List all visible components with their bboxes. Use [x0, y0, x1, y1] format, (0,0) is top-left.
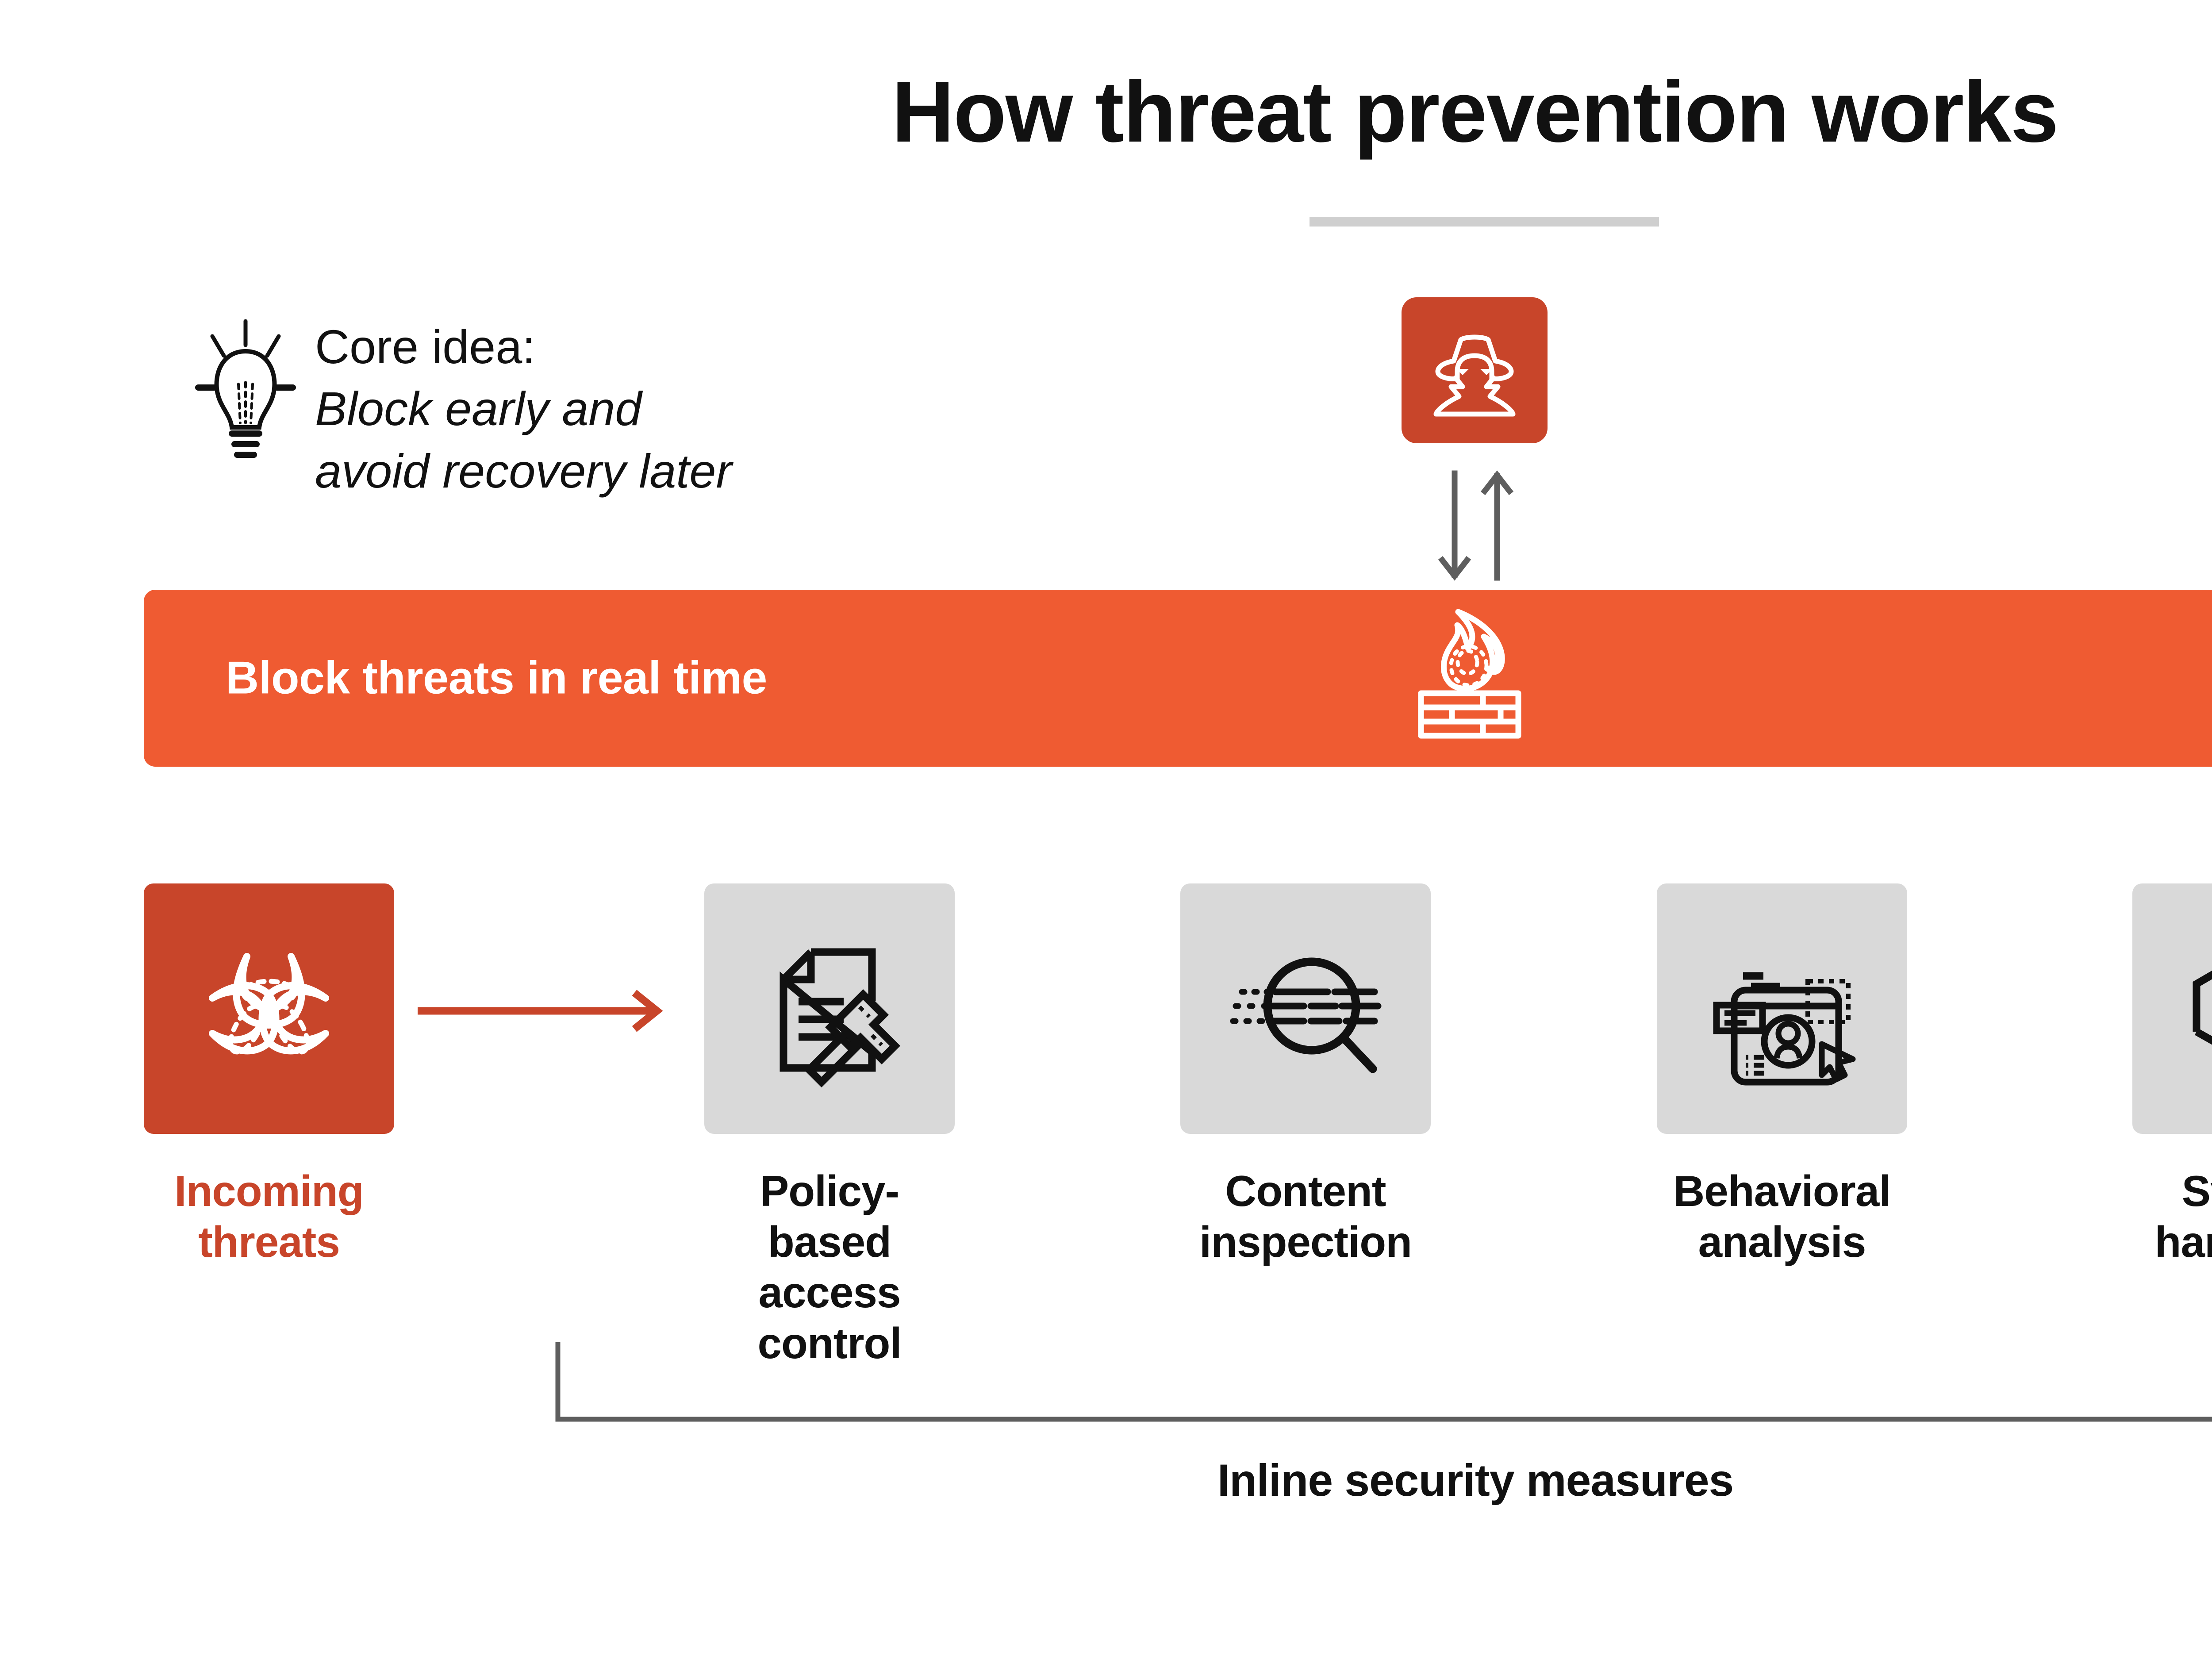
incoming-threats-tile[interactable]: [144, 883, 394, 1134]
core-idea-detail-line-1: Block early and: [315, 378, 732, 440]
arrow-down-icon: [1442, 473, 1467, 576]
behavioral-analysis-tile[interactable]: [1657, 883, 1907, 1134]
page-header: How threat prevention works: [0, 66, 2212, 157]
label-line-2: threats: [144, 1217, 394, 1267]
inline-measures-caption: Inline security measures: [555, 1455, 2212, 1506]
title-divider: [1310, 217, 1659, 227]
hacker-icon: [1425, 319, 1525, 422]
core-idea-label: Core idea:: [315, 316, 732, 378]
pipeline-stage-incoming-threats[interactable]: Incoming threats: [144, 883, 394, 1267]
realtime-block-banner[interactable]: Block threats in real time: [144, 590, 2212, 767]
pipeline-stage-system-hardening[interactable]: System hardening: [2132, 883, 2212, 1267]
label-line-1: Content: [1180, 1166, 1431, 1217]
pipeline-stage-policy-based-access-control[interactable]: Policy-based access control: [704, 883, 955, 1369]
bidirectional-exchange-arrows: [1420, 470, 1531, 581]
document-gavel-icon: [741, 919, 918, 1098]
core-idea-callout: Core idea: Block early and avoid recover…: [195, 310, 732, 502]
core-idea-detail-line-2: avoid recovery later: [315, 440, 732, 502]
flow-arrow-right: [416, 987, 672, 1035]
security-pipeline: Incoming threats: [0, 883, 2212, 1326]
magnifier-datalines-icon: [1217, 919, 1394, 1098]
incoming-threats-label: Incoming threats: [144, 1166, 394, 1267]
label-line-1: Incoming: [144, 1166, 394, 1217]
label-line-2: analysis: [1657, 1217, 1907, 1267]
label-line-2: inspection: [1180, 1217, 1431, 1267]
label-line-1: System: [2132, 1166, 2212, 1217]
label-line-1: Behavioral: [1657, 1166, 1907, 1217]
pipeline-stage-behavioral-analysis[interactable]: Behavioral analysis: [1657, 883, 1907, 1267]
page-title: How threat prevention works: [0, 66, 2212, 157]
inline-measures-bracket: [555, 1340, 2212, 1425]
policy-based-access-control-label: Policy-based access control: [704, 1166, 955, 1369]
lightbulb-icon: [195, 318, 296, 464]
threat-actor-tile[interactable]: [1402, 297, 1548, 443]
behavioral-analysis-label: Behavioral analysis: [1657, 1166, 1907, 1267]
label-line-1: Policy-based: [704, 1166, 955, 1267]
system-hardening-tile[interactable]: [2132, 883, 2212, 1134]
biohazard-icon: [180, 919, 357, 1098]
hexagon-shield-icon: [2169, 919, 2212, 1098]
realtime-block-label: Block threats in real time: [226, 652, 767, 705]
arrow-up-icon: [1485, 475, 1509, 578]
label-line-2: hardening: [2132, 1217, 2212, 1267]
pipeline-stage-content-inspection[interactable]: Content inspection: [1180, 883, 1431, 1267]
system-hardening-label: System hardening: [2132, 1166, 2212, 1267]
firewall-icon: [1406, 607, 1533, 740]
content-inspection-label: Content inspection: [1180, 1166, 1431, 1267]
user-window-cursor-icon: [1694, 919, 1870, 1098]
content-inspection-tile[interactable]: [1180, 883, 1431, 1134]
policy-based-access-control-tile[interactable]: [704, 883, 955, 1134]
